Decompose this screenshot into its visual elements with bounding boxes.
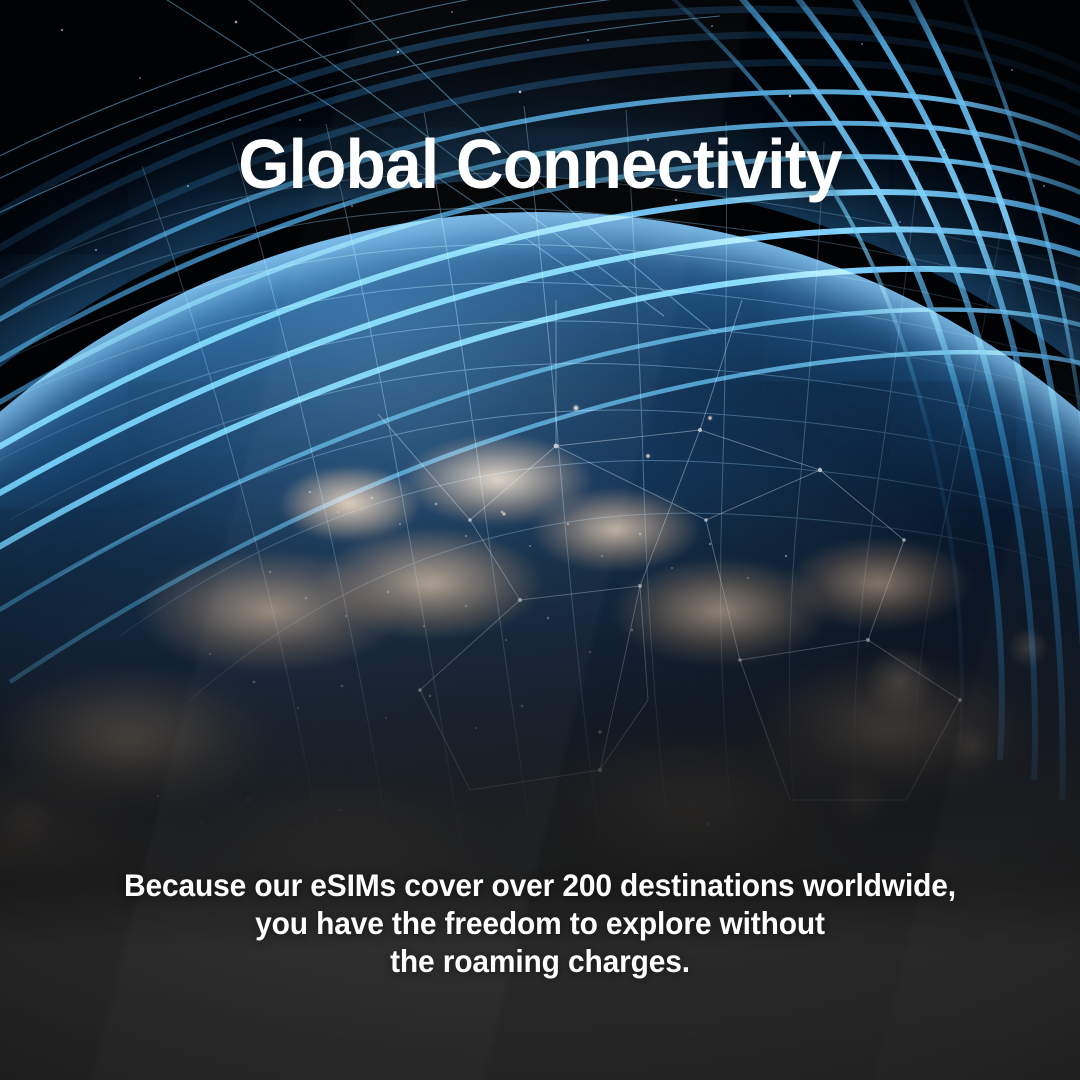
body-line-1: Because our eSIMs cover over 200 destina… [27, 866, 1053, 904]
poster-canvas: Global Connectivity Because our eSIMs co… [0, 0, 1080, 1080]
body-line-2: you have the freedom to explore without [27, 904, 1053, 942]
body-line-3: the roaming charges. [27, 942, 1053, 980]
body-copy: Because our eSIMs cover over 200 destina… [27, 866, 1053, 980]
page-title: Global Connectivity [32, 129, 1047, 199]
